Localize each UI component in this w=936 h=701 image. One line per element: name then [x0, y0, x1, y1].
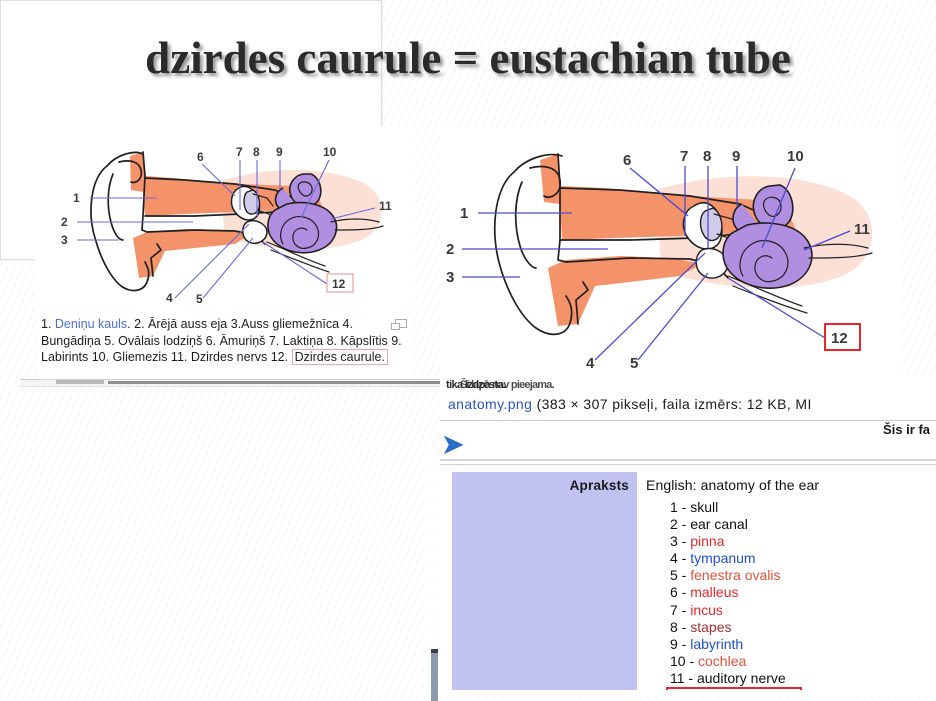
anatomy-term-label: skull [690, 499, 718, 515]
svg-text:4: 4 [586, 355, 595, 372]
divider-1 [440, 420, 936, 421]
svg-text:5: 5 [630, 355, 638, 372]
viewport-bottom-edge [438, 690, 936, 699]
ghost-text-b: Šī lapa nav pieejama. [460, 379, 554, 391]
anatomy-term-row: 2 - ear canal [670, 516, 802, 533]
anatomy-term-number: 9 - [670, 636, 690, 652]
divider-3 [440, 464, 936, 465]
anatomy-term-number: 11 - [670, 670, 697, 686]
anatomy-term-label: auditory nerve [697, 670, 786, 686]
svg-text:3: 3 [61, 233, 68, 247]
svg-text:2: 2 [61, 215, 68, 229]
anatomy-term-label: stapes [690, 619, 731, 635]
svg-text:11: 11 [854, 221, 870, 238]
vertical-scrollbar-thumb[interactable] [431, 649, 438, 701]
horizontal-scrollbar-track[interactable] [108, 381, 440, 384]
anatomy-term-label: cochlea [698, 653, 746, 669]
svg-text:1: 1 [460, 205, 468, 222]
file-info-line: anatomy.png (383 × 307 pikseļi, faila iz… [448, 396, 812, 412]
anatomy-term-number: 10 - [670, 653, 698, 669]
anatomy-term-label: labyrinth [690, 636, 743, 652]
anatomy-term-row: 3 - pinna [670, 533, 802, 550]
anatomy-term-row: 6 - malleus [670, 584, 802, 601]
svg-text:10: 10 [787, 148, 804, 165]
anatomy-term-row: 4 - tympanum [670, 550, 802, 567]
anatomy-term-row: 8 - stapes [670, 619, 802, 636]
svg-text:5: 5 [196, 292, 203, 306]
svg-text:8: 8 [253, 145, 260, 159]
anatomy-term-row: 11 - auditory nerve [670, 670, 802, 687]
sis-ir-fails-text: Šis ir fa [883, 422, 930, 437]
anatomy-term-label: malleus [690, 584, 738, 600]
slide-canvas: dzirdes caurule = eustachian tube [0, 0, 936, 699]
anatomy-term-row: 5 - fenestra ovalis [670, 567, 802, 584]
svg-text:12: 12 [831, 330, 848, 347]
svg-text:12: 12 [332, 277, 346, 291]
anatomy-term-number: 6 - [670, 584, 690, 600]
svg-text:9: 9 [276, 145, 283, 159]
svg-text:11: 11 [379, 199, 392, 213]
anatomy-term-number: 8 - [670, 619, 690, 635]
anatomy-term-row: 1 - skull [670, 499, 802, 516]
anatomy-term-row: 10 - cochlea [670, 653, 802, 670]
anatomy-term-list: 1 - skull2 - ear canal3 - pinna4 - tympa… [670, 499, 802, 699]
svg-text:6: 6 [623, 152, 631, 169]
page-title: dzirdes caurule = eustachian tube [0, 32, 936, 84]
divider-2 [440, 459, 936, 461]
browser-content-pane: tika izdzēsta. Šī lapa nav pieejama. ana… [440, 376, 936, 699]
anatomy-term-number: 3 - [670, 533, 690, 549]
anatomy-term-number: 2 - [670, 516, 690, 532]
anatomy-term-row: 9 - labyrinth [670, 636, 802, 653]
svg-text:4: 4 [166, 291, 173, 305]
anatomy-term-number: 4 - [670, 550, 690, 566]
description-body-cell: English: anatomy of the ear 1 - skull2 -… [642, 472, 936, 699]
anatomy-term-number: 5 - [670, 567, 690, 583]
caption-highlight-dzirdes-caurule: Dzirdes caurule. [292, 349, 388, 365]
anatomy-term-label: pinna [690, 533, 724, 549]
vertical-scrollbar[interactable] [430, 461, 439, 699]
file-name-link[interactable]: anatomy.png [448, 396, 532, 412]
right-ear-diagram-svg: 1 2 3 4 5 6 7 8 9 10 11 12 [440, 128, 902, 378]
anatomy-term-number: 7 - [670, 602, 690, 618]
right-ear-diagram: 1 2 3 4 5 6 7 8 9 10 11 12 [440, 128, 902, 378]
ghost-overlapping-text: tika izdzēsta. Šī lapa nav pieejama. [446, 379, 505, 391]
blue-arrow-icon[interactable]: ➤ [442, 434, 460, 456]
horizontal-scrollbar[interactable] [20, 379, 440, 387]
anatomy-term-label: tympanum [690, 550, 755, 566]
caption-number-1: 1. [41, 317, 55, 331]
enlarge-icon[interactable] [391, 319, 407, 331]
anatomy-term-label: incus [690, 602, 723, 618]
left-caption: 1. Deniņu kauls. 2. Ārējā auss eja 3.Aus… [37, 313, 413, 383]
left-ear-diagram-svg: 1 2 3 4 5 6 7 8 9 10 11 12 [35, 126, 415, 311]
svg-text:2: 2 [446, 241, 454, 258]
anatomy-term-label: fenestra ovalis [690, 567, 780, 583]
anatomy-term-row: 7 - incus [670, 602, 802, 619]
svg-text:7: 7 [236, 145, 243, 159]
file-meta-text: (383 × 307 pikseļi, faila izmērs: 12 KB,… [537, 396, 812, 412]
svg-text:10: 10 [323, 145, 337, 159]
left-ear-diagram: 1 2 3 4 5 6 7 8 9 10 11 12 [35, 126, 415, 311]
svg-text:6: 6 [197, 150, 204, 164]
svg-text:3: 3 [446, 269, 454, 286]
apraksts-label: Apraksts [570, 478, 629, 493]
caption-link-deninu-kauls[interactable]: Deniņu kauls [55, 317, 127, 331]
anatomy-term-label: ear canal [690, 516, 748, 532]
svg-text:9: 9 [732, 148, 740, 165]
svg-text:1: 1 [73, 191, 80, 205]
description-table: Apraksts English: anatomy of the ear 1 -… [452, 472, 936, 699]
horizontal-scrollbar-thumb[interactable] [56, 380, 104, 384]
anatomy-term-number: 1 - [670, 499, 690, 515]
description-heading: English: anatomy of the ear [646, 477, 819, 493]
svg-text:7: 7 [680, 148, 688, 165]
description-label-cell: Apraksts [452, 472, 637, 699]
svg-text:8: 8 [703, 148, 711, 165]
